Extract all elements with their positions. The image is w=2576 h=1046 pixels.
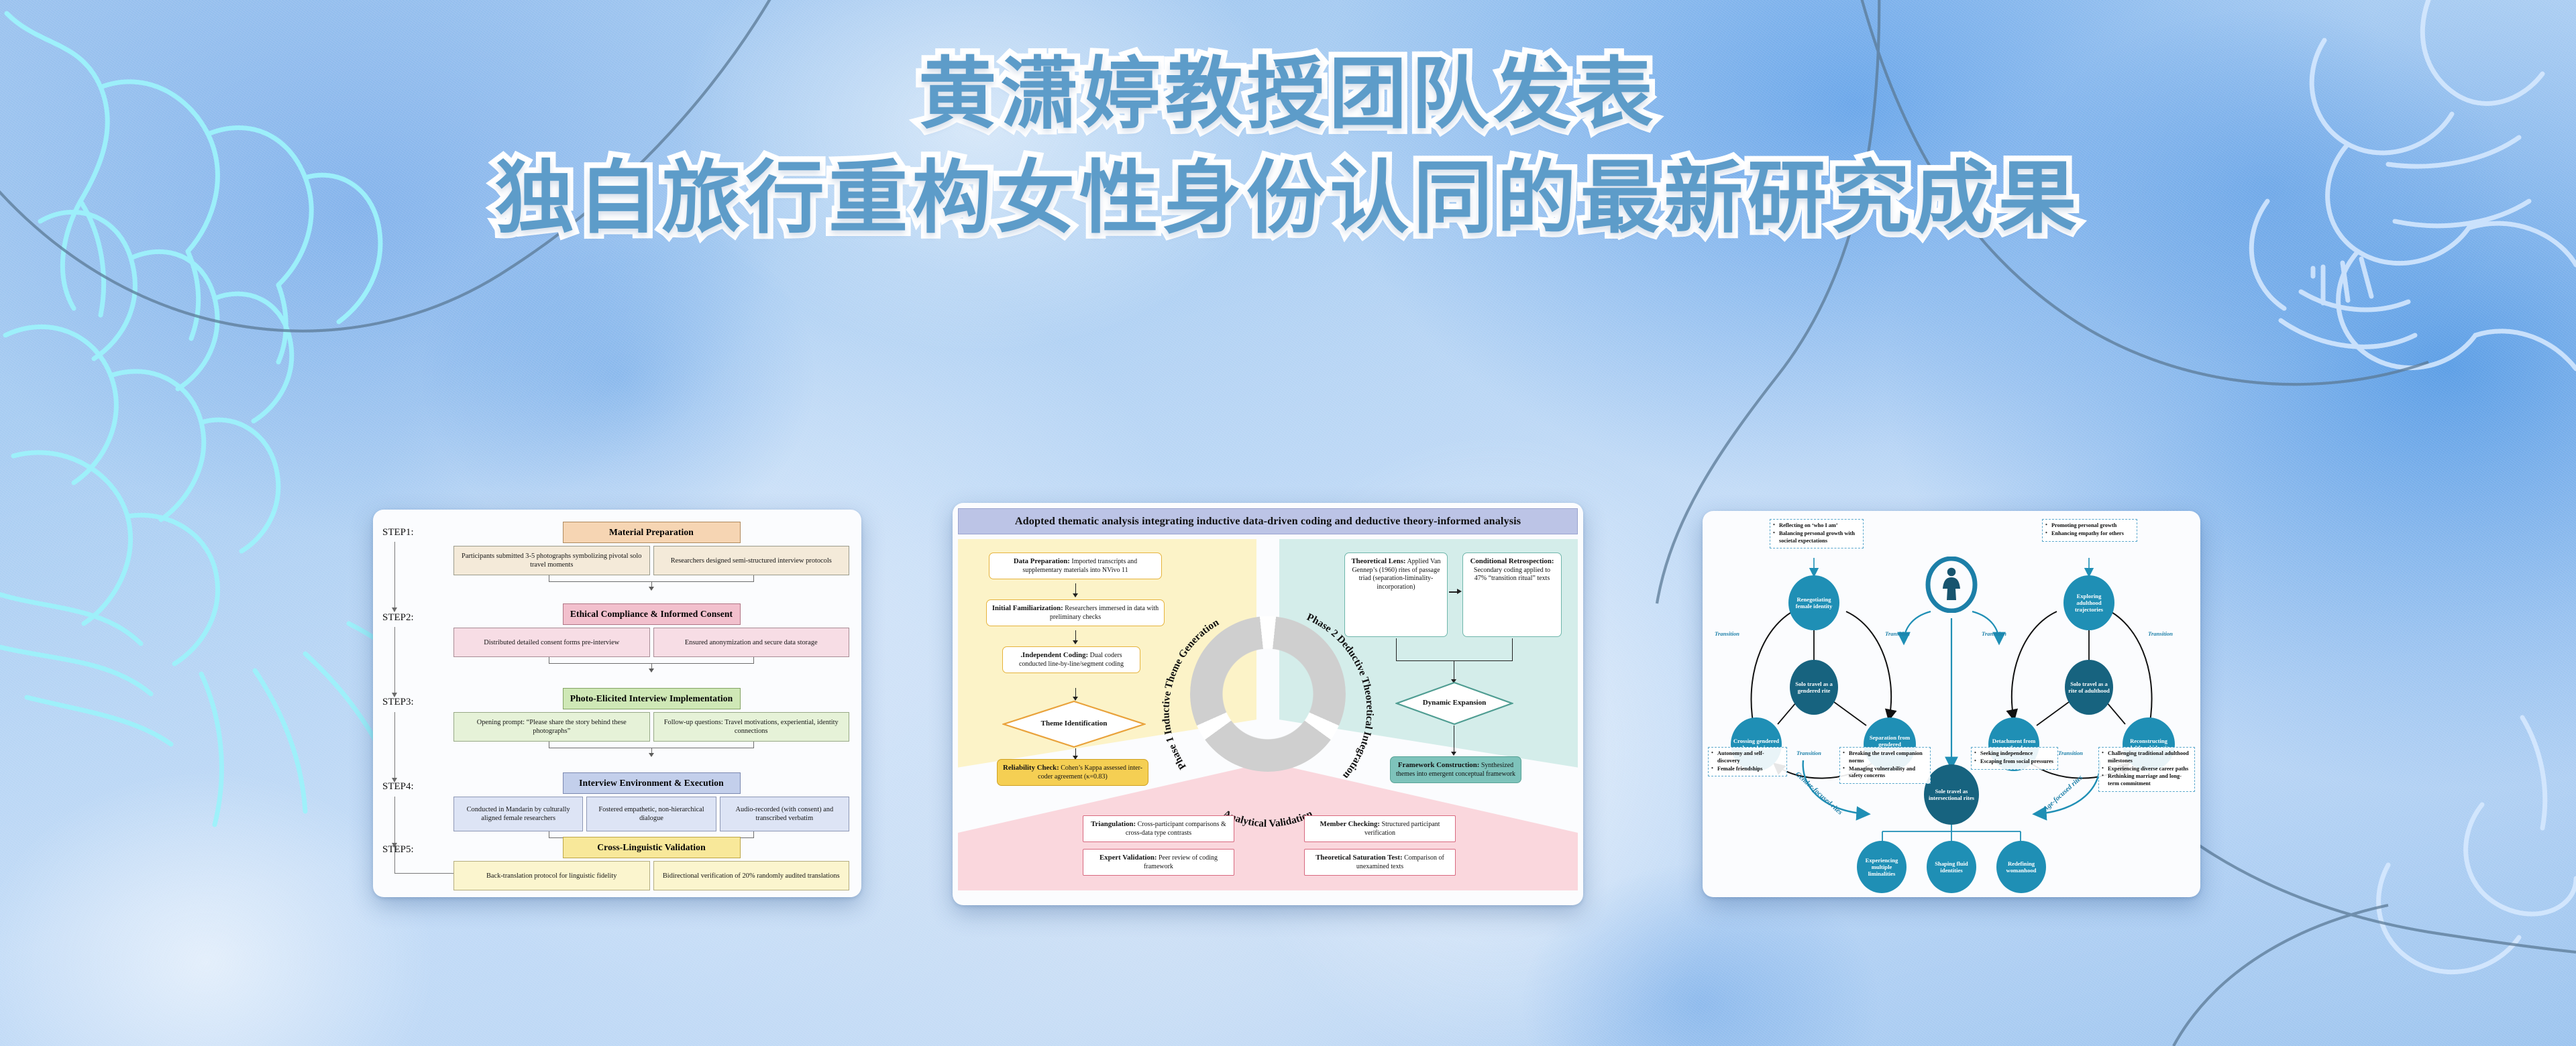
step-4-header: Interview Environment & Execution xyxy=(563,772,741,794)
step-label-5: STEP5: xyxy=(382,844,414,856)
list-bottom-left-2: Breaking the travel companion norms Mana… xyxy=(1839,747,1931,784)
phase1-box-3-label: .Independent Coding: xyxy=(1020,651,1088,659)
step-label-1: STEP1: xyxy=(382,527,414,538)
phase1-diamond-label: Theme Identification xyxy=(1002,700,1146,748)
phase3-box-3-label: Expert Validation: xyxy=(1099,854,1157,862)
phase1-box-1: Data Preparation: Imported transcripts a… xyxy=(989,553,1162,579)
step-3-header: Photo-Elicited Interview Implementation xyxy=(563,688,741,709)
step-1-box-1: Participants submitted 3-5 photographs s… xyxy=(453,546,650,575)
connector-3-to-4 xyxy=(453,742,849,756)
figure-card-identity-model[interactable]: Renegotiating female identity Exploring … xyxy=(1703,511,2200,897)
title-line-1: 黄潇婷教授团队发表 xyxy=(0,50,2576,138)
step-5-box-2: Bidirectional verification of 20% random… xyxy=(653,861,850,890)
phase2-arrow-to-result xyxy=(1454,725,1454,755)
step-rail-1 xyxy=(394,542,395,612)
step-5-header: Cross-Linguistic Validation xyxy=(563,837,741,858)
list-br2-item-2: Rethinking marriage and long-term commit… xyxy=(2102,773,2191,788)
figure-card-methodology-steps[interactable]: STEP1: Material Preparation Participants… xyxy=(373,510,861,897)
step-2-box-2: Ensured anonymization and secure data st… xyxy=(653,628,850,657)
phase2-box-2-text: Secondary coding applied to 47% “transit… xyxy=(1474,567,1550,583)
phase2-diamond-label: Dynamic Expansion xyxy=(1395,681,1513,725)
phase2-box-1-label: Theoretical Lens: xyxy=(1351,557,1405,565)
transition-label-6: Transition xyxy=(2058,750,2083,756)
phase-donut-ring xyxy=(1190,616,1346,772)
list-bottom-left-1: Autonomy and self-discovery Female frien… xyxy=(1708,747,1787,776)
step-label-3: STEP3: xyxy=(382,697,414,708)
phase1-box-2-label: Initial Familiarization: xyxy=(992,604,1063,612)
node-solo-travel-rite-of-adulthood[interactable]: Solo travel as a rite of adulthood xyxy=(2065,660,2113,715)
phase2-merge-bracket xyxy=(1396,638,1513,661)
transition-label-5: Transition xyxy=(1796,750,1821,756)
phase3-box-1-label: Triangulation: xyxy=(1091,820,1136,828)
transition-label-4: Transition xyxy=(2148,630,2173,637)
step-label-2: STEP2: xyxy=(382,612,414,624)
phase2-box-2-label: Conditional Retrospection: xyxy=(1470,557,1554,565)
node-redefining-womanhood[interactable]: Redefining womanhood xyxy=(1996,841,2046,893)
step-1-box-2: Researchers designed semi-structured int… xyxy=(653,546,850,575)
list-br1-item-0: Seeking independence xyxy=(1974,750,2054,758)
connector-2-to-3 xyxy=(453,657,849,672)
list-top-left: Reflecting on ‘who I am’ Balancing perso… xyxy=(1770,519,1864,548)
list-top-left-item-0: Reflecting on ‘who I am’ xyxy=(1773,522,1860,530)
step-rail-2 xyxy=(394,627,395,697)
transition-label-1: Transition xyxy=(1715,630,1739,637)
transition-label-3: Transition xyxy=(1982,630,2006,637)
connector-1-to-2 xyxy=(453,575,849,590)
step-3-box-1: Opening prompt: “Please share the story … xyxy=(453,712,650,742)
phase3-box-4: Theoretical Saturation Test: Comparison … xyxy=(1304,849,1456,876)
phase3-box-2: Member Checking: Structured participant … xyxy=(1304,815,1456,842)
phase3-box-4-label: Theoretical Saturation Test: xyxy=(1316,854,1402,862)
node-experiencing-multiple-liminalities[interactable]: Experiencing multiple liminalities xyxy=(1857,841,1907,893)
step-2-box-1: Distributed detailed consent forms pre-i… xyxy=(453,628,650,657)
list-bottom-right-2: Challenging traditional adulthood milest… xyxy=(2098,747,2195,792)
list-bl1-item-1: Female friendships xyxy=(1711,766,1783,773)
list-top-right: Promoting personal growth Enhancing empa… xyxy=(2042,519,2137,542)
phase2-result-bold: Framework Construction: xyxy=(1398,761,1479,769)
phase2-result-box: Framework Construction: Synthesized them… xyxy=(1390,756,1521,783)
figure-card-thematic-analysis[interactable]: Adopted thematic analysis integrating in… xyxy=(953,503,1583,905)
phase2-box-1: Theoretical Lens: Applied Van Gennep’s (… xyxy=(1344,553,1448,637)
list-br1-item-1: Escaping from social pressures xyxy=(1974,758,2054,766)
list-top-right-item-0: Promoting personal growth xyxy=(2045,522,2133,530)
list-bl2-item-0: Breaking the travel companion norms xyxy=(1843,750,1927,765)
node-exploring-adulthood-trajectories[interactable]: Exploring adulthood trajectories xyxy=(2063,575,2114,630)
list-br2-item-0: Challenging traditional adulthood milest… xyxy=(2102,750,2191,765)
phase3-box-3: Expert Validation: Peer review of coding… xyxy=(1083,849,1234,876)
phase2-box-2: Conditional Retrospection: Secondary cod… xyxy=(1462,553,1562,637)
step-rail-4 xyxy=(394,797,395,847)
phase1-box-1-label: Data Preparation: xyxy=(1014,557,1070,565)
node-solo-travel-intersectional-rites[interactable]: Sole travel as intersectional rites xyxy=(1924,764,1979,825)
phase3-box-1: Triangulation: Cross-participant compari… xyxy=(1083,815,1234,842)
middle-card-title: Adopted thematic analysis integrating in… xyxy=(958,508,1578,534)
step-2-header: Ethical Compliance & Informed Consent xyxy=(563,603,741,625)
node-shaping-fluid-identities[interactable]: Shaping fluid identities xyxy=(1927,841,1976,893)
step-4-box-1: Conducted in Mandarin by culturally alig… xyxy=(453,797,583,831)
banner-title-block: 黄潇婷教授团队发表 独自旅行重构女性身份认同的最新研究成果 xyxy=(0,50,2576,242)
list-br2-item-1: Experiencing diverse career paths xyxy=(2102,766,2191,773)
step-label-4: STEP4: xyxy=(382,781,414,793)
phase1-arrow-4 xyxy=(1075,748,1076,759)
step-4-box-2: Fostered empathetic, non-hierarchical di… xyxy=(586,797,716,831)
list-bl2-item-1: Managing vulnerability and safety concer… xyxy=(1843,766,1927,780)
phase2-diamond-wrap: Dynamic Expansion xyxy=(1395,681,1513,725)
phase3-box-2-label: Member Checking: xyxy=(1320,820,1380,828)
phase2-arrow-to-diamond xyxy=(1454,661,1454,683)
phase1-arrow-2 xyxy=(1075,630,1076,644)
phase1-arrow-1 xyxy=(1075,583,1076,597)
list-bottom-right-1: Seeking independence Escaping from socia… xyxy=(1971,747,2058,770)
node-renegotiating-female-identity[interactable]: Renegotiating female identity xyxy=(1788,575,1839,630)
phase1-box-2: Initial Familiarization: Researchers imm… xyxy=(986,599,1165,626)
list-bl1-item-0: Autonomy and self-discovery xyxy=(1711,750,1783,765)
phase2-link-arrow-head xyxy=(1457,589,1462,594)
phase1-box-2-text: Researchers immersed in data with prelim… xyxy=(1050,605,1159,621)
node-solo-travel-gendered-rite[interactable]: Solo travel as a gendered rite xyxy=(1790,660,1838,715)
phase1-result-label: Reliability Check: xyxy=(1003,764,1059,772)
list-top-left-item-1: Balancing personal growth with societal … xyxy=(1773,530,1860,545)
phase3-box-1-text: Cross-participant comparisons & cross-da… xyxy=(1126,821,1226,837)
transition-label-2: Transition xyxy=(1885,630,1910,637)
phase1-diamond-wrap: Theme Identification xyxy=(1002,700,1146,748)
step-5-box-1: Back-translation protocol for linguistic… xyxy=(453,861,650,890)
list-top-right-item-1: Enhancing empathy for others xyxy=(2045,530,2133,538)
phase1-result-box: Reliability Check: Cohen’s Kappa assesse… xyxy=(997,759,1148,786)
step-1-header: Material Preparation xyxy=(563,522,741,543)
step-4-box-3: Audio-recorded (with consent) and transc… xyxy=(720,797,849,831)
step-rail-3 xyxy=(394,712,395,782)
phase1-box-3: .Independent Coding: Dual coders conduct… xyxy=(1002,646,1140,673)
phase1-arrow-3 xyxy=(1075,688,1076,700)
title-line-2: 独自旅行重构女性身份认同的最新研究成果 xyxy=(0,153,2576,242)
woman-figure-icon xyxy=(1923,557,1980,613)
step-3-box-2: Follow-up questions: Travel motivations,… xyxy=(653,712,850,742)
